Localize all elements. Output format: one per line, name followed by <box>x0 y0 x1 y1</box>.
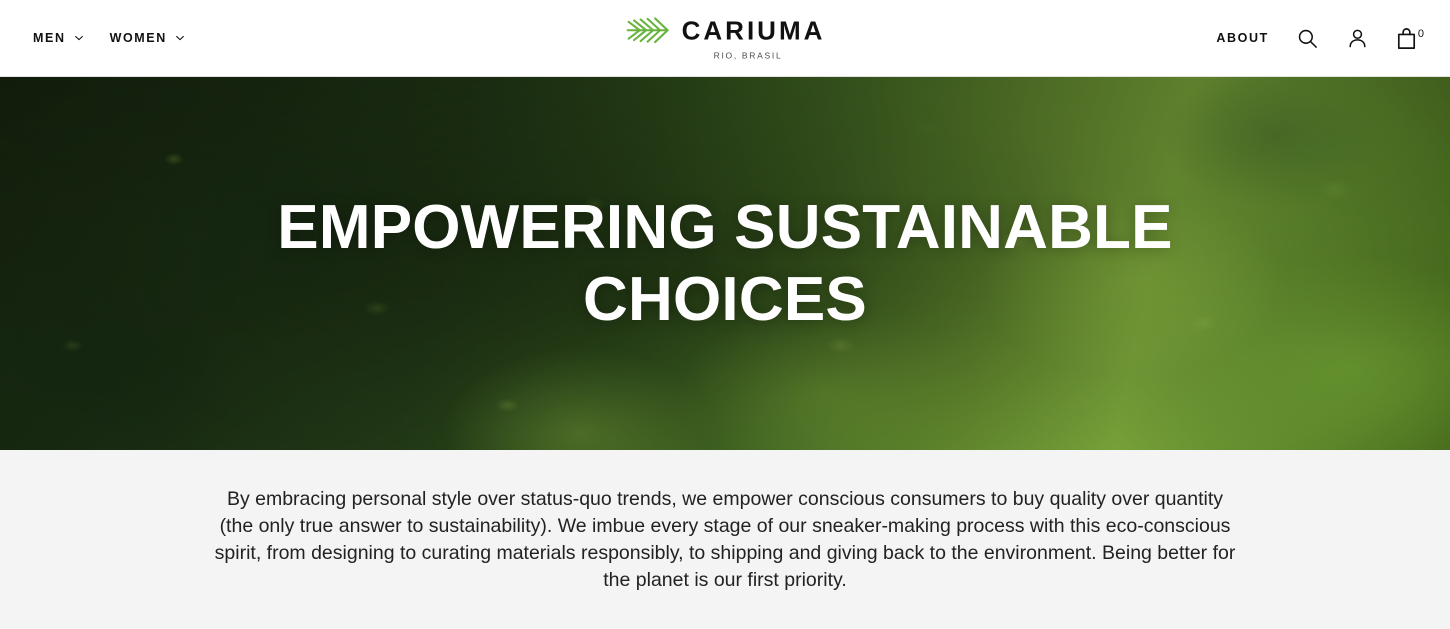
nav-item-women[interactable]: WOMEN <box>110 28 185 49</box>
user-icon <box>1346 27 1369 50</box>
nav-item-about[interactable]: ABOUT <box>1216 32 1268 45</box>
nav-item-women-label: WOMEN <box>110 32 167 45</box>
site-header: MEN WOMEN <box>0 0 1450 77</box>
account-button[interactable] <box>1346 27 1369 50</box>
logo-tagline: RIO, BRASIL <box>714 51 783 60</box>
cart-button[interactable]: 0 <box>1396 27 1424 50</box>
primary-nav-right: ABOUT <box>1216 27 1450 50</box>
shopping-bag-icon <box>1396 27 1417 50</box>
chevron-down-icon <box>175 33 185 43</box>
intro-section: By embracing personal style over status-… <box>0 450 1450 629</box>
cariuma-leaf-icon <box>625 16 669 44</box>
logo-wordmark: CARIUMA <box>682 17 826 43</box>
intro-paragraph: By embracing personal style over status-… <box>210 486 1240 594</box>
nav-item-men-label: MEN <box>33 32 66 45</box>
nav-item-men[interactable]: MEN <box>33 28 84 49</box>
chevron-down-icon <box>74 33 84 43</box>
hero-title: EMPOWERING SUSTAINABLE CHOICES <box>275 192 1175 336</box>
cart-count-badge: 0 <box>1418 29 1424 40</box>
logo-row: CARIUMA <box>625 16 826 44</box>
page-root: MEN WOMEN <box>0 0 1450 629</box>
primary-nav-left: MEN WOMEN <box>0 28 185 49</box>
brand-logo[interactable]: CARIUMA RIO, BRASIL <box>625 16 826 60</box>
search-icon <box>1296 27 1319 50</box>
hero-banner: EMPOWERING SUSTAINABLE CHOICES <box>0 77 1450 450</box>
search-button[interactable] <box>1296 27 1319 50</box>
hero-content: EMPOWERING SUSTAINABLE CHOICES <box>0 77 1450 450</box>
